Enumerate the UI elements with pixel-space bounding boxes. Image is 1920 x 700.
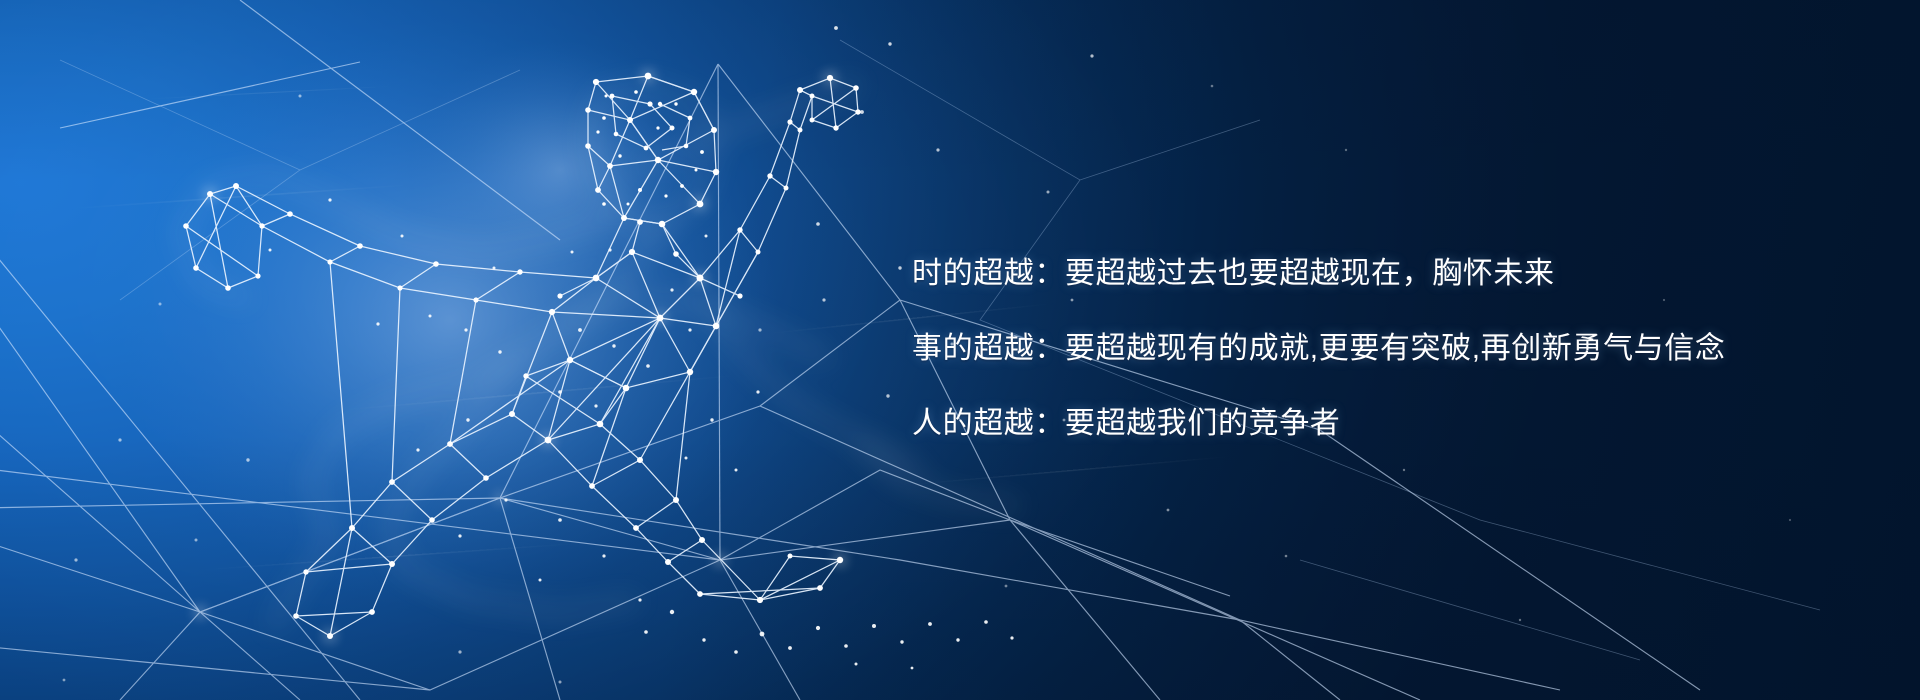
slogan-text-block: 时的超越：要超越过去也要超越现在，胸怀未来 事的超越：要超越现有的成就,更要有突… xyxy=(912,236,1872,461)
slogan-line-people: 人的超越：要超越我们的竞争者 xyxy=(912,386,1872,461)
slogan-line-time: 时的超越：要超越过去也要超越现在，胸怀未来 xyxy=(912,236,1872,311)
hero-banner: 时的超越：要超越过去也要超越现在，胸怀未来 事的超越：要超越现有的成就,更要有突… xyxy=(0,0,1920,700)
slogan-line-matters: 事的超越：要超越现有的成就,更要有突破,再创新勇气与信念 xyxy=(912,311,1872,386)
